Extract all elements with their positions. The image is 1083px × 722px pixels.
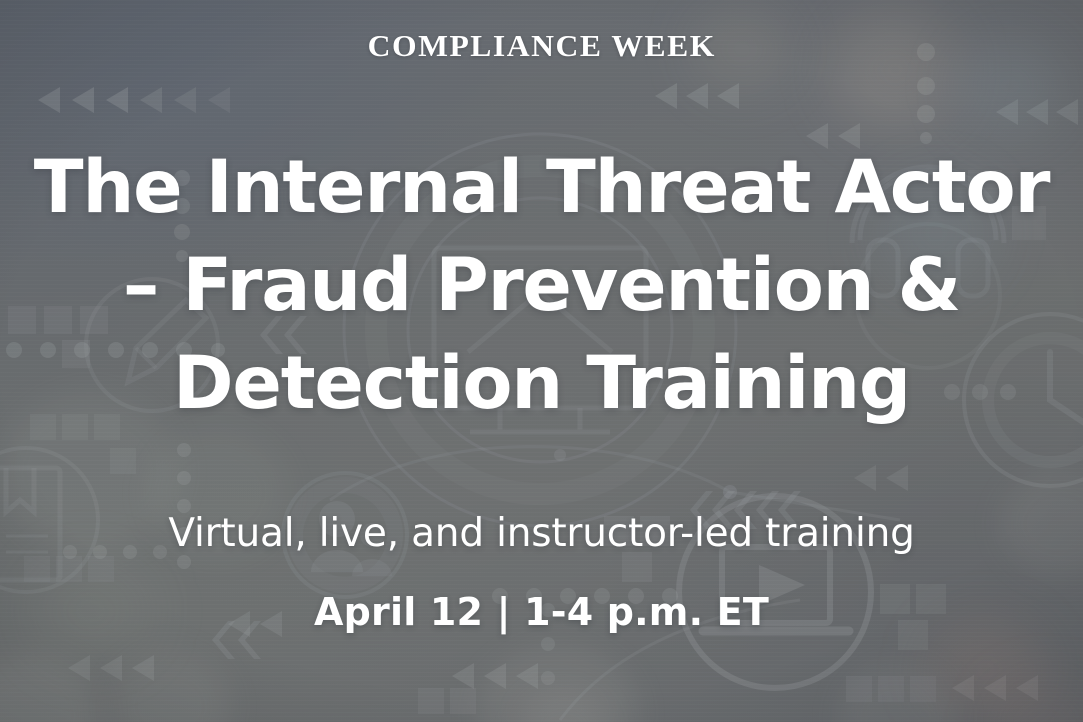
subtitle: Virtual, live, and instructor-led traini… xyxy=(168,513,914,556)
headline-line-2: – Fraud Prevention & xyxy=(12,237,1072,335)
event-date: April 12 | 1-4 p.m. ET xyxy=(314,592,769,634)
headline-line-3: Detection Training xyxy=(12,335,1072,433)
brand-logo: COMPLIANCE WEEK xyxy=(367,30,715,61)
banner-content: COMPLIANCE WEEK The Internal Threat Acto… xyxy=(0,0,1083,722)
page-title: The Internal Threat Actor – Fraud Preven… xyxy=(12,139,1072,433)
promo-banner: COMPLIANCE WEEK The Internal Threat Acto… xyxy=(0,0,1083,722)
headline-line-1: The Internal Threat Actor xyxy=(12,139,1072,237)
